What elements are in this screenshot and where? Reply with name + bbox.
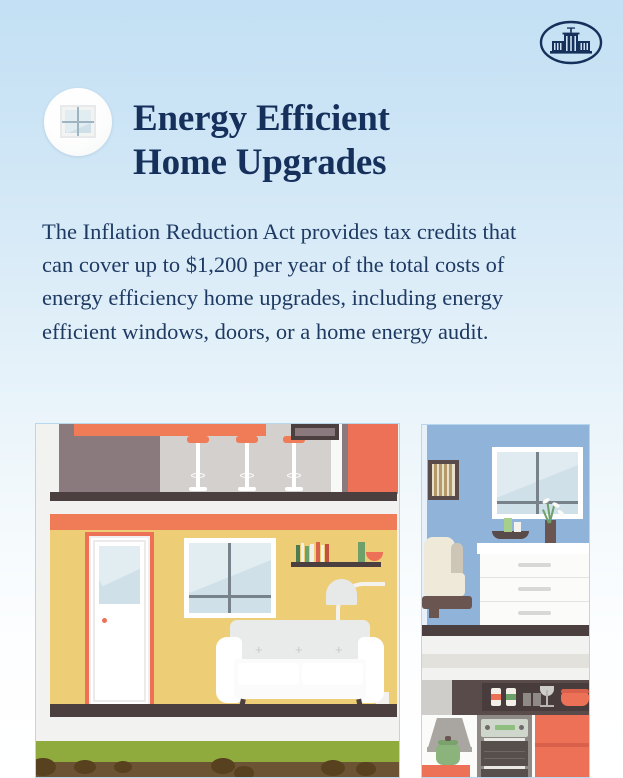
art-stroke (439, 464, 442, 496)
soil-pebble (74, 760, 96, 774)
art-stroke (449, 464, 452, 496)
wall-shelf (291, 562, 381, 567)
art-stroke (444, 464, 447, 496)
drinking-cup (523, 693, 531, 706)
jar-label (506, 694, 516, 700)
window-icon (60, 105, 96, 138)
dresser-handle (518, 611, 551, 615)
sofa-cushion (238, 663, 299, 685)
book (316, 542, 320, 562)
dresser-drawer-divider (480, 601, 589, 602)
sofa-tuft: + (335, 643, 343, 656)
floor-gap-band (422, 636, 589, 654)
stool-base (189, 487, 207, 491)
sofa-cushion (302, 663, 363, 685)
floor-lamp-shade (326, 579, 357, 605)
door-knob (102, 618, 107, 623)
armchair-leg (429, 609, 439, 618)
armchair-seat (424, 573, 465, 596)
window-badge (44, 88, 112, 156)
floor-gap-band (422, 668, 589, 680)
stool-base (285, 487, 303, 491)
stool-post (196, 443, 200, 491)
window-mullion-horizontal (189, 595, 271, 598)
page-title-line-2: Home Upgrades (133, 141, 533, 185)
dresser-handle (518, 587, 551, 591)
bar-stool (187, 436, 209, 443)
floor-gap-band (422, 654, 589, 668)
dresser-drawer-divider (480, 577, 589, 578)
refrigerator-door-divider (535, 743, 589, 747)
book (296, 545, 300, 562)
sofa-tuft: + (295, 643, 303, 656)
soil-pebble (114, 761, 132, 773)
oven-door-line (484, 758, 525, 759)
upper-orange-wall (348, 424, 398, 494)
armchair-base (422, 596, 472, 609)
kitchen-bedroom-illustration (421, 424, 590, 778)
bar-counter (74, 424, 266, 436)
stovetop-pot-knob (445, 736, 451, 741)
soil-pebble (234, 766, 254, 778)
window-mullion-horizontal (497, 501, 578, 504)
window-mullion-horizontal (62, 121, 94, 123)
soil-pebble (211, 758, 235, 774)
oven-display (495, 725, 515, 730)
stool-seat (236, 436, 258, 443)
dresser-top (477, 543, 589, 554)
foundation-band (36, 717, 399, 741)
book (301, 543, 304, 562)
cookware-pot (561, 693, 589, 706)
art-stroke (434, 464, 437, 496)
soil-pebble (356, 762, 376, 776)
white-house-seal-icon (539, 20, 603, 65)
book (305, 546, 309, 562)
oven-knob (485, 725, 490, 730)
stool-footring (191, 473, 205, 478)
sofa-tuft: + (255, 643, 263, 656)
living-room-floor (50, 704, 397, 717)
stool-footring (240, 473, 254, 478)
stool-post (292, 443, 296, 491)
door-glass (99, 546, 140, 604)
kitchen-counter (422, 765, 470, 778)
jar-label (491, 694, 501, 700)
oven-knob (519, 725, 524, 730)
window-mullion-vertical (536, 452, 539, 514)
book (321, 545, 324, 562)
stool-post (245, 443, 249, 491)
kitchen-wall-column (422, 680, 452, 715)
dresser-handle (518, 563, 551, 567)
orange-ceiling-band (50, 514, 397, 530)
stool-base (238, 487, 256, 491)
page-title: Energy Efficient Home Upgrades (133, 97, 533, 185)
stool-footring (287, 473, 301, 478)
decor-candle (504, 518, 512, 532)
window-mullion-vertical (228, 543, 231, 613)
oven-door-upper (481, 741, 528, 766)
oven-door-line (484, 751, 525, 752)
soil-pebble (321, 760, 345, 776)
shelf-vase (358, 542, 365, 562)
wine-glass-stem (546, 690, 548, 706)
ceiling-gap (36, 501, 399, 514)
decor-candle (514, 522, 521, 532)
book (310, 544, 314, 562)
decor-tray (492, 531, 529, 539)
bar-stool (236, 436, 258, 443)
body-paragraph: The Inflation Reduction Act provides tax… (42, 215, 542, 349)
infographic-card: Energy Efficient Home Upgrades The Infla… (0, 0, 623, 778)
stovetop-pot (436, 745, 460, 765)
book (325, 544, 329, 562)
bedroom-floor-slab (422, 625, 589, 636)
wine-glass-foot (540, 705, 554, 707)
living-room-illustration: + + + (35, 423, 400, 778)
upper-floor-slab (50, 492, 397, 501)
stool-seat (187, 436, 209, 443)
wall-picture-frame (291, 424, 339, 440)
page-title-line-1: Energy Efficient (133, 98, 390, 139)
